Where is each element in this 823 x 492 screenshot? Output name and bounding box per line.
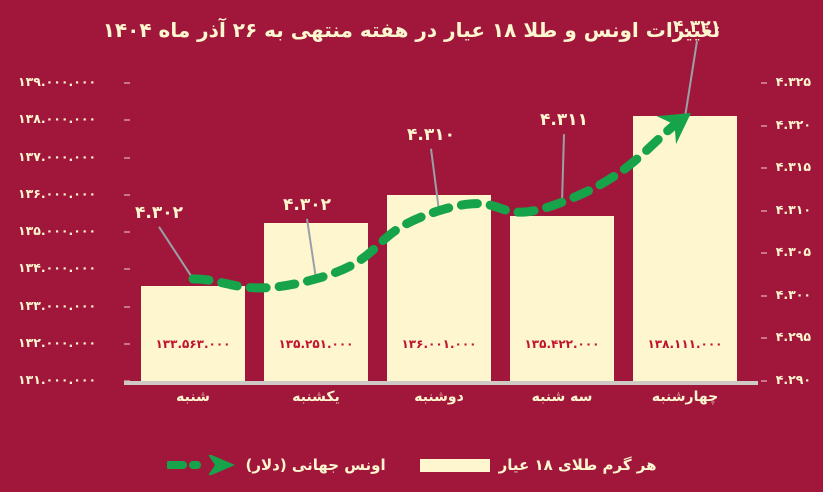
line-point-label: ۴.۳۱۰ <box>386 125 476 145</box>
legend-item[interactable]: اونس جهانی (دلار) <box>167 455 386 475</box>
leader-line <box>307 219 316 279</box>
chart-legend: اونس جهانی (دلار)هر گرم طلای ۱۸ عیار <box>0 450 823 480</box>
line-point-label: ۴.۳۰۲ <box>262 195 352 215</box>
left-axis-tick-label: ۱۳۹.۰۰۰.۰۰۰ <box>18 74 122 89</box>
right-axis-tick <box>761 380 767 382</box>
right-axis-tick <box>761 125 767 127</box>
left-axis-tick-label: ۱۳۷.۰۰۰.۰۰۰ <box>18 149 122 164</box>
legend-item[interactable]: هر گرم طلای ۱۸ عیار <box>420 456 657 474</box>
left-axis-tick-label: ۱۳۶.۰۰۰.۰۰۰ <box>18 186 122 201</box>
left-axis-tick-label: ۱۳۵.۰۰۰.۰۰۰ <box>18 223 122 238</box>
plot-area: ۱۳۳.۵۶۳.۰۰۰۱۳۵.۲۵۱.۰۰۰۱۳۶.۰۰۱.۰۰۰۱۳۵.۴۲۲… <box>124 60 758 381</box>
leader-line <box>159 227 193 279</box>
right-axis-tick <box>761 167 767 169</box>
right-axis-tick <box>761 295 767 297</box>
line-point-label: ۴.۳۰۲ <box>114 203 204 223</box>
left-axis-tick-label: ۱۳۸.۰۰۰.۰۰۰ <box>18 111 122 126</box>
legend-bar-swatch-icon <box>420 459 490 472</box>
line-point-label: ۴.۳۲۱ <box>652 17 742 37</box>
right-axis-tick-label: ۴.۲۹۵ <box>749 329 811 344</box>
right-axis-tick-label: ۴.۳۱۰ <box>749 202 811 217</box>
right-axis-tick-label: ۴.۳۱۵ <box>749 159 811 174</box>
right-axis-tick-label: ۴.۳۰۵ <box>749 244 811 259</box>
right-axis-tick <box>761 252 767 254</box>
left-axis-tick-label: ۱۳۲.۰۰۰.۰۰۰ <box>18 335 122 350</box>
category-label: سه شنبه <box>510 389 614 405</box>
line-point-label: ۴.۳۱۱ <box>519 110 609 130</box>
right-axis-tick-label: ۴.۳۲۰ <box>749 117 811 132</box>
category-label: شنبه <box>141 389 245 405</box>
category-label: دوشنبه <box>387 389 491 405</box>
ounce-line-series <box>124 60 758 381</box>
right-axis-tick-label: ۴.۳۰۰ <box>749 287 811 302</box>
leader-line <box>431 149 439 211</box>
category-label: یکشنبه <box>264 389 368 405</box>
right-axis-tick-label: ۴.۲۹۰ <box>749 372 811 387</box>
right-axis-tick <box>761 210 767 212</box>
left-axis-tick-label: ۱۳۳.۰۰۰.۰۰۰ <box>18 298 122 313</box>
left-axis-tick-label: ۱۳۴.۰۰۰.۰۰۰ <box>18 260 122 275</box>
legend-label: هر گرم طلای ۱۸ عیار <box>499 456 657 474</box>
leader-line <box>685 41 697 117</box>
trend-arrow-icon <box>657 99 701 144</box>
legend-label: اونس جهانی (دلار) <box>246 456 386 474</box>
legend-arrow-line-icon <box>167 455 237 475</box>
right-axis-tick <box>761 337 767 339</box>
right-axis-tick-label: ۴.۳۲۵ <box>749 74 811 89</box>
right-axis-tick <box>761 82 767 84</box>
chart-canvas: تغییرات اونس و طلا ۱۸ عیار در هفته منتهی… <box>0 0 823 492</box>
left-axis-tick-label: ۱۳۱.۰۰۰.۰۰۰ <box>18 372 122 387</box>
leader-line <box>562 134 564 202</box>
category-label: چهارشنبه <box>633 389 737 405</box>
axis-baseline <box>124 381 758 385</box>
